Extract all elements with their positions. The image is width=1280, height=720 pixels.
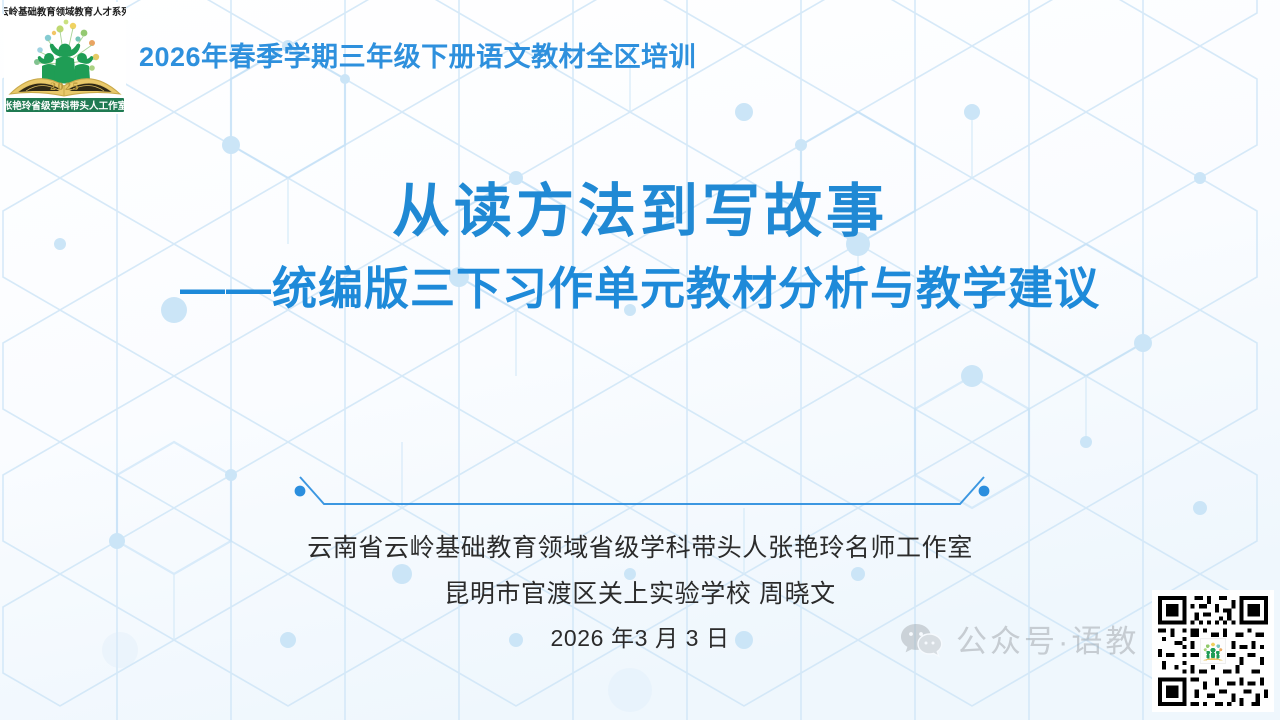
workshop-logo: 云岭基础教育领域教育人才系列: [4, 2, 126, 114]
logo-bottom-text: 张艳玲省级学科带头人工作室: [4, 100, 126, 112]
logo-book-year: 2025: [50, 79, 80, 93]
presentation-slide: 云岭基础教育领域教育人才系列: [0, 0, 1280, 720]
title-block: 从读方法到写故事 ——统编版三下习作单元教材分析与教学建议: [0, 180, 1280, 315]
divider-dot-left: [295, 486, 306, 497]
divider-dot-right: [979, 486, 990, 497]
logo-top-text: 云岭基础教育领域教育人才系列: [4, 6, 126, 18]
sub-title: ——统编版三下习作单元教材分析与教学建议: [0, 263, 1280, 315]
wechat-icon: [900, 622, 944, 660]
tech-line-divider: [0, 466, 1280, 518]
wechat-qr-code[interactable]: [1152, 590, 1274, 712]
watermark-text: 公众号·语教: [956, 626, 1139, 657]
qr-center-logo: [1199, 637, 1227, 665]
footer-organization: 云南省云岭基础教育领域省级学科带头人张艳玲名师工作室: [0, 532, 1280, 565]
main-title: 从读方法到写故事: [0, 180, 1280, 245]
wechat-watermark: 公众号·语教: [900, 622, 1139, 660]
header-title: 2026年春季学期三年级下册语文教材全区培训: [139, 44, 696, 71]
footer-presenter: 昆明市官渡区关上实验学校 周晓文: [0, 578, 1280, 611]
